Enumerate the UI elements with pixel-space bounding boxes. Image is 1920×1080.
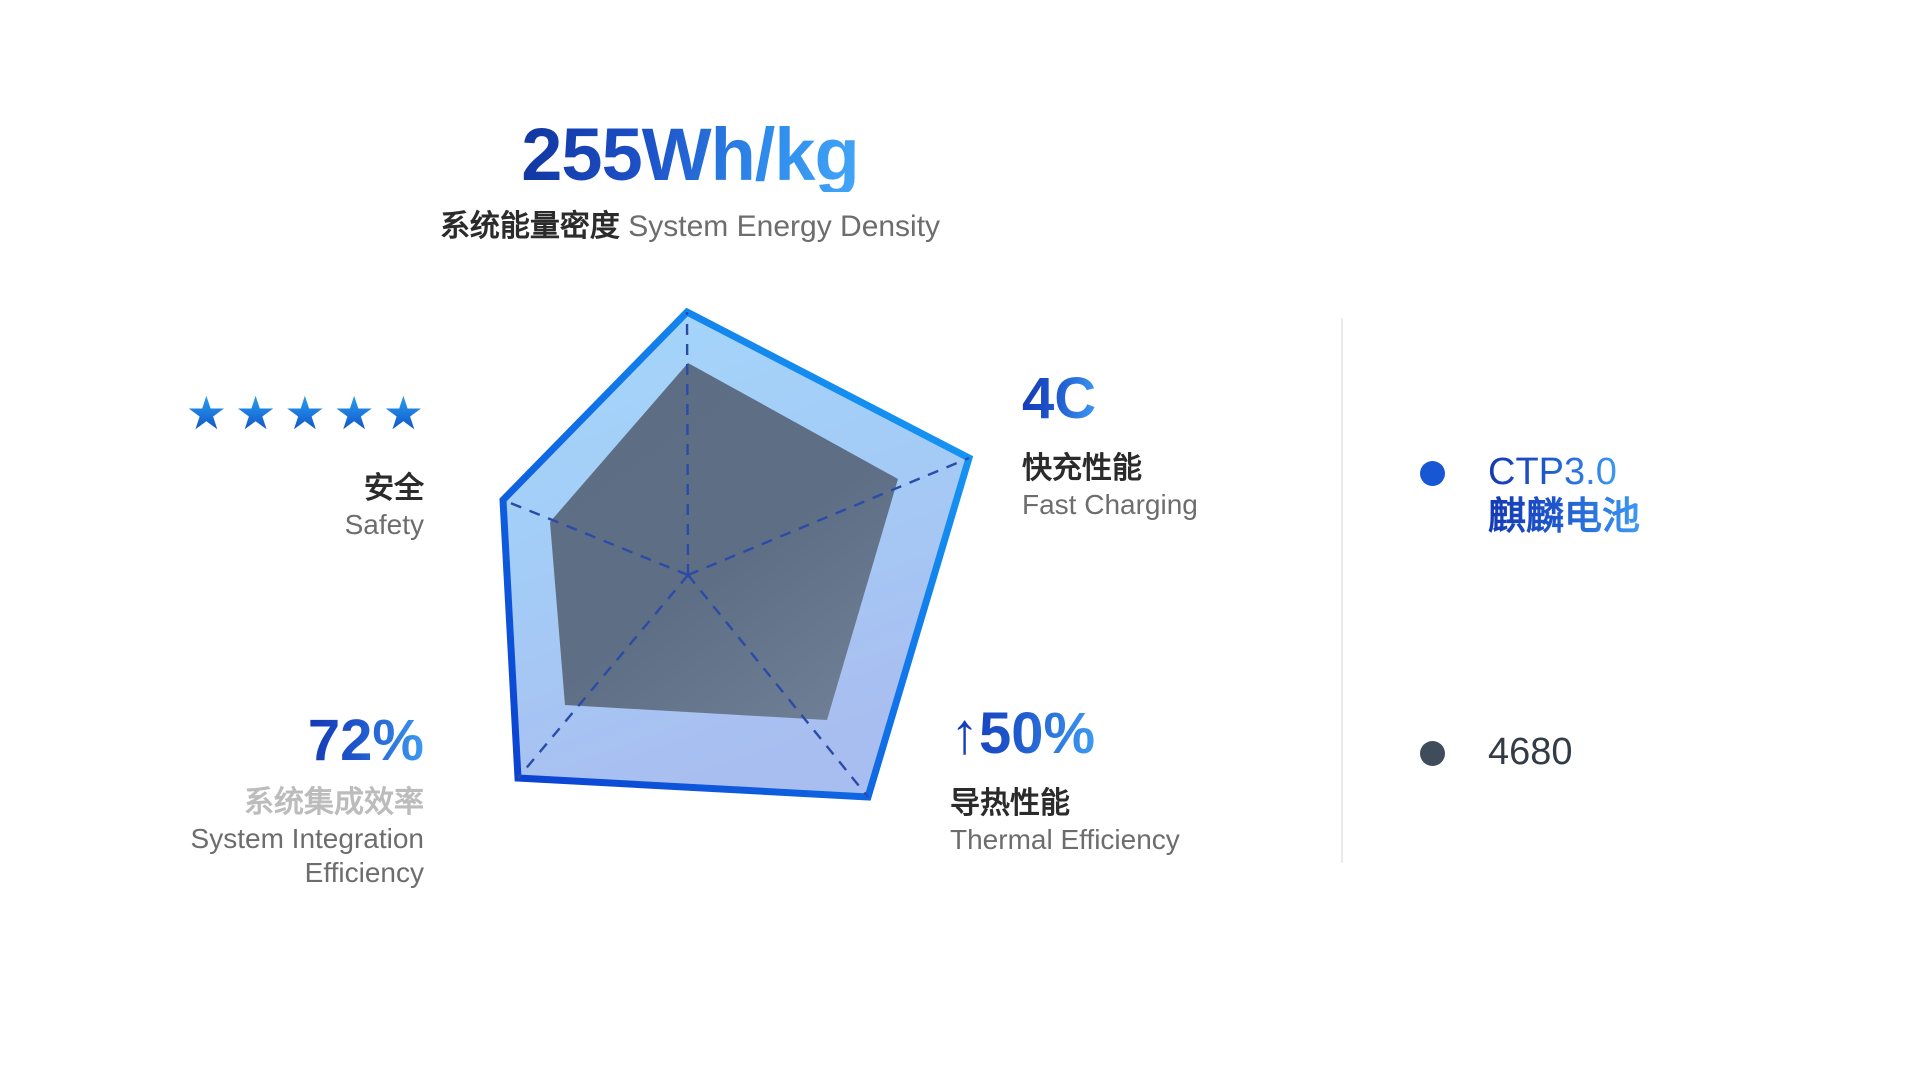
metric-system-integration-efficiency: 72% 系统集成效率 System Integration Efficiency (40, 712, 424, 890)
headline-value: 255Wh/kg (0, 118, 1380, 192)
fast-charging-label-cn: 快充性能 (1022, 450, 1382, 488)
sie-label-cn: 系统集成效率 (40, 784, 424, 822)
headline-label-en: System Energy Density (628, 210, 940, 243)
slide-root: 255Wh/kg 系统能量密度 System Energy Density (0, 0, 1920, 1080)
sie-label-en-line2: Efficiency (40, 856, 424, 890)
legend-item-4680[interactable]: 4680 (1420, 730, 1840, 775)
fast-charging-value: 4C (1022, 370, 1382, 428)
metric-safety: ★★★★★ 安全 Safety (60, 390, 424, 542)
legend-ctp30-line2: 麒麟电池 (1488, 495, 1640, 540)
headline-value-text: 255Wh/kg (521, 118, 858, 192)
star-icon: ★ (383, 390, 424, 436)
thermal-label-en: Thermal Efficiency (950, 823, 1310, 857)
legend-marker-icon (1420, 461, 1445, 486)
legend-marker-icon (1420, 741, 1445, 766)
star-icon: ★ (334, 390, 375, 436)
headline-block: 255Wh/kg 系统能量密度 System Energy Density (0, 118, 1380, 243)
safety-label-en: Safety (60, 508, 424, 542)
legend-label-ctp30: CTP3.0 麒麟电池 (1488, 450, 1640, 540)
thermal-label-cn: 导热性能 (950, 785, 1310, 823)
sie-value-text: 72% (308, 712, 424, 770)
star-icon: ★ (186, 390, 227, 436)
thermal-value-text: ↑50% (950, 705, 1095, 763)
legend-item-ctp30[interactable]: CTP3.0 麒麟电池 (1420, 450, 1840, 540)
safety-label-cn: 安全 (60, 470, 424, 508)
sie-value: 72% (40, 712, 424, 770)
chart-legend: CTP3.0 麒麟电池 4680 (1420, 450, 1840, 774)
radar-chart (370, 250, 1010, 870)
star-icon: ★ (284, 390, 325, 436)
star-icon: ★ (235, 390, 276, 436)
headline-label-cn: 系统能量密度 (440, 210, 620, 243)
legend-ctp30-line1: CTP3.0 (1488, 450, 1617, 495)
legend-label-4680: 4680 (1488, 730, 1573, 775)
vertical-divider (1341, 318, 1343, 863)
headline-subtitle: 系统能量密度 System Energy Density (0, 210, 1380, 243)
fast-charging-value-text: 4C (1022, 370, 1096, 428)
metric-fast-charging: 4C 快充性能 Fast Charging (1022, 370, 1382, 522)
thermal-value: ↑50% (950, 705, 1310, 763)
metric-thermal-efficiency: ↑50% 导热性能 Thermal Efficiency (950, 705, 1310, 857)
sie-label-en-line1: System Integration (40, 822, 424, 856)
fast-charging-label-en: Fast Charging (1022, 488, 1382, 522)
safety-star-rating: ★★★★★ (60, 390, 424, 436)
